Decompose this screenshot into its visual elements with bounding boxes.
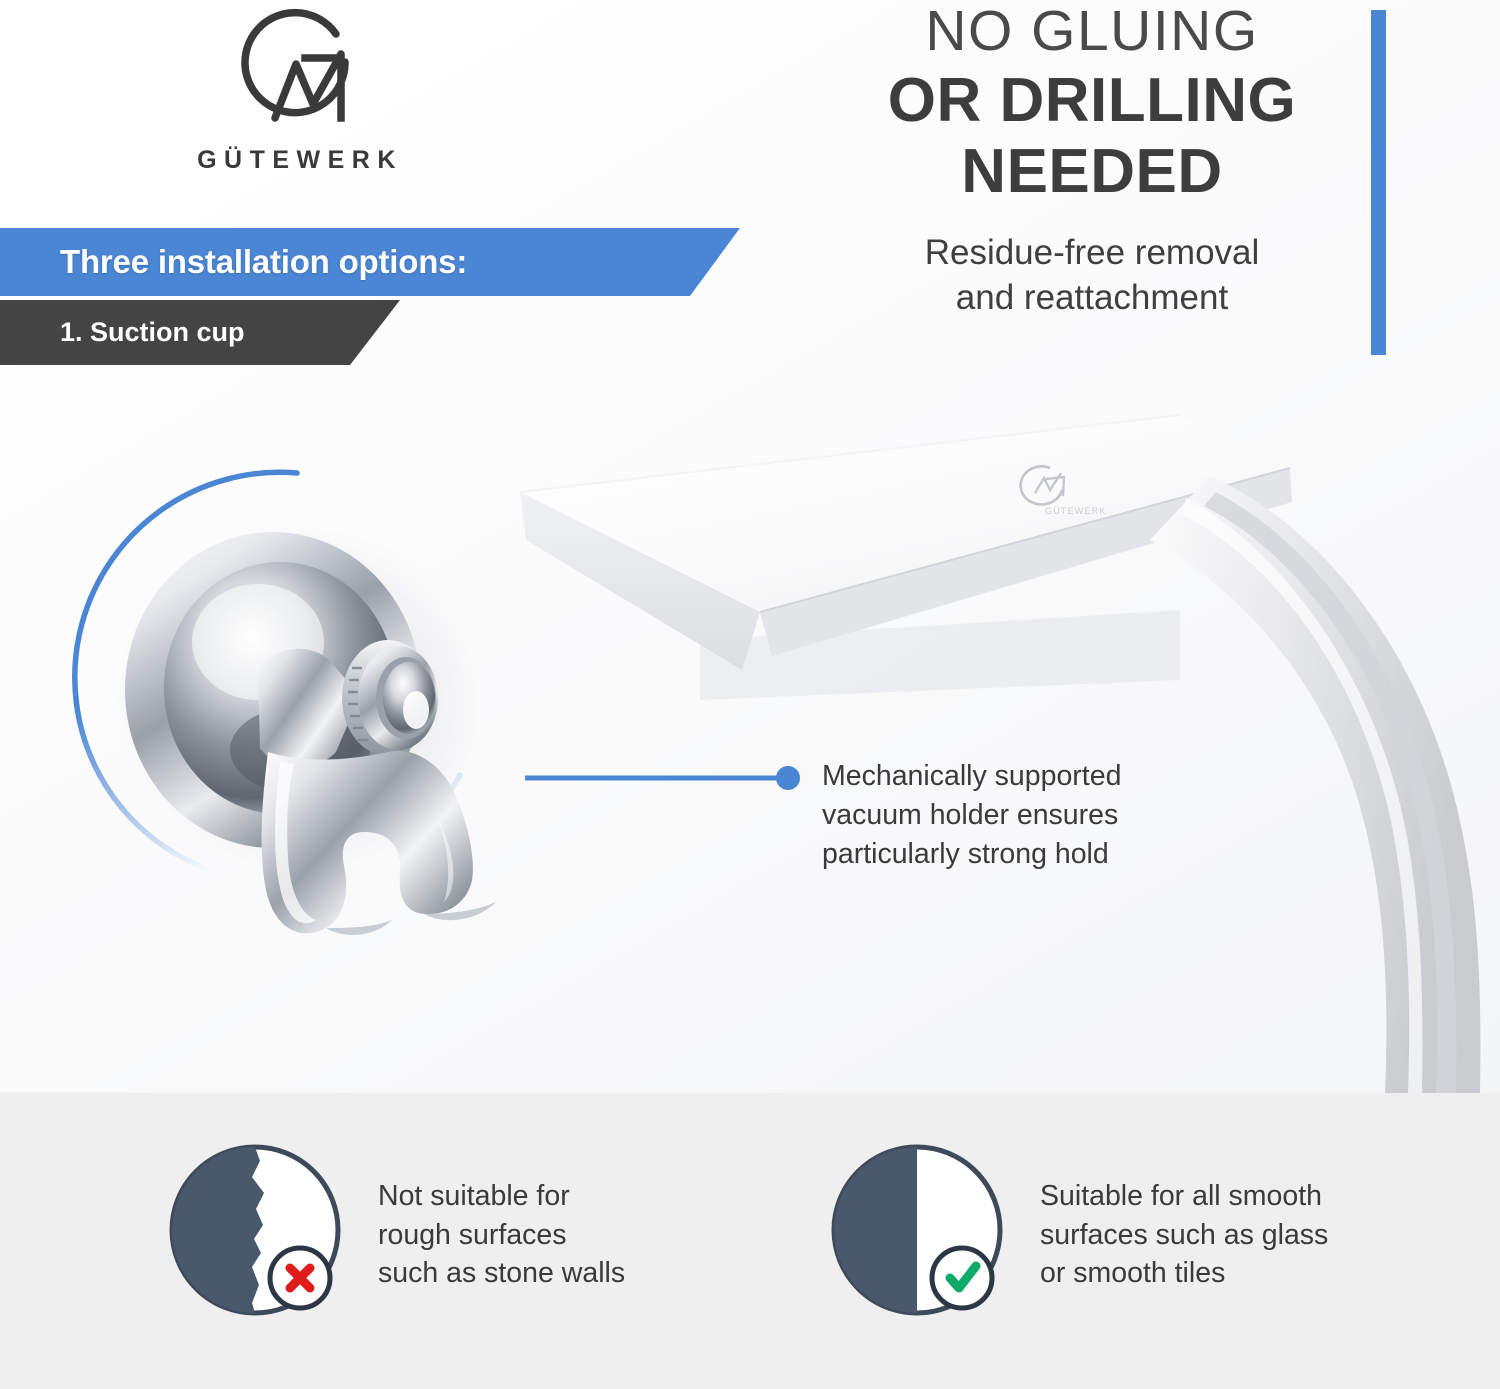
- rough-surface-circle-icon: [160, 1135, 360, 1335]
- headline-subtitle-line-2: and reattachment: [812, 276, 1372, 321]
- surface-smooth-text: Suitable for all smooth surfaces such as…: [1040, 1177, 1328, 1293]
- surface-rough-text: Not suitable for rough surfaces such as …: [378, 1177, 625, 1293]
- installation-options-banner: Three installation options:: [0, 228, 740, 296]
- surface-rough-line-2: rough surfaces: [378, 1216, 625, 1255]
- callout-line-3: particularly strong hold: [822, 835, 1222, 874]
- headline-subtitle-line-1: Residue-free removal: [812, 231, 1372, 276]
- installation-options-label: Three installation options:: [60, 243, 467, 281]
- headline-line-2: OR DRILLING: [812, 66, 1372, 135]
- callout-line-1: Mechanically supported: [822, 757, 1222, 796]
- surface-rough-line-1: Not suitable for: [378, 1177, 625, 1216]
- surface-smooth-line-1: Suitable for all smooth: [1040, 1177, 1328, 1216]
- surface-smooth-line-2: surfaces such as glass: [1040, 1216, 1328, 1255]
- surface-smooth-line-3: or smooth tiles: [1040, 1254, 1328, 1293]
- suction-cup-banner: 1. Suction cup: [0, 300, 400, 365]
- headline-line-3: NEEDED: [812, 137, 1372, 206]
- headline-block: NO GLUING OR DRILLING NEEDED Residue-fre…: [812, 0, 1372, 320]
- surface-rough-line-3: such as stone walls: [378, 1254, 625, 1293]
- header-accent-bar: [1371, 10, 1386, 355]
- callout-connector: [525, 766, 800, 790]
- surface-item-smooth: Suitable for all smooth surfaces such as…: [822, 1135, 1328, 1335]
- surface-item-rough: Not suitable for rough surfaces such as …: [160, 1135, 625, 1335]
- smooth-surface-circle-icon: [822, 1135, 1022, 1335]
- headline-subtitle: Residue-free removal and reattachment: [812, 231, 1372, 321]
- brand-logo: GÜTEWERK: [150, 8, 450, 175]
- gutewerk-g-mountain-logo: [233, 8, 368, 138]
- headline-line-1: NO GLUING: [812, 0, 1372, 64]
- suction-cup-label: 1. Suction cup: [60, 317, 245, 348]
- squeegee-product: GÜTEWERK: [520, 415, 1480, 1093]
- svg-text:GÜTEWERK: GÜTEWERK: [1045, 506, 1107, 516]
- callout-line-2: vacuum holder ensures: [822, 796, 1222, 835]
- product-illustration: GÜTEWERK: [0, 380, 1500, 1093]
- callout-text: Mechanically supported vacuum holder ens…: [822, 757, 1222, 873]
- top-section: GÜTEWERK Three installation options: 1. …: [0, 0, 1500, 1093]
- brand-wordmark: GÜTEWERK: [150, 146, 450, 175]
- product-photo-stage: GÜTEWERK: [0, 380, 1500, 1093]
